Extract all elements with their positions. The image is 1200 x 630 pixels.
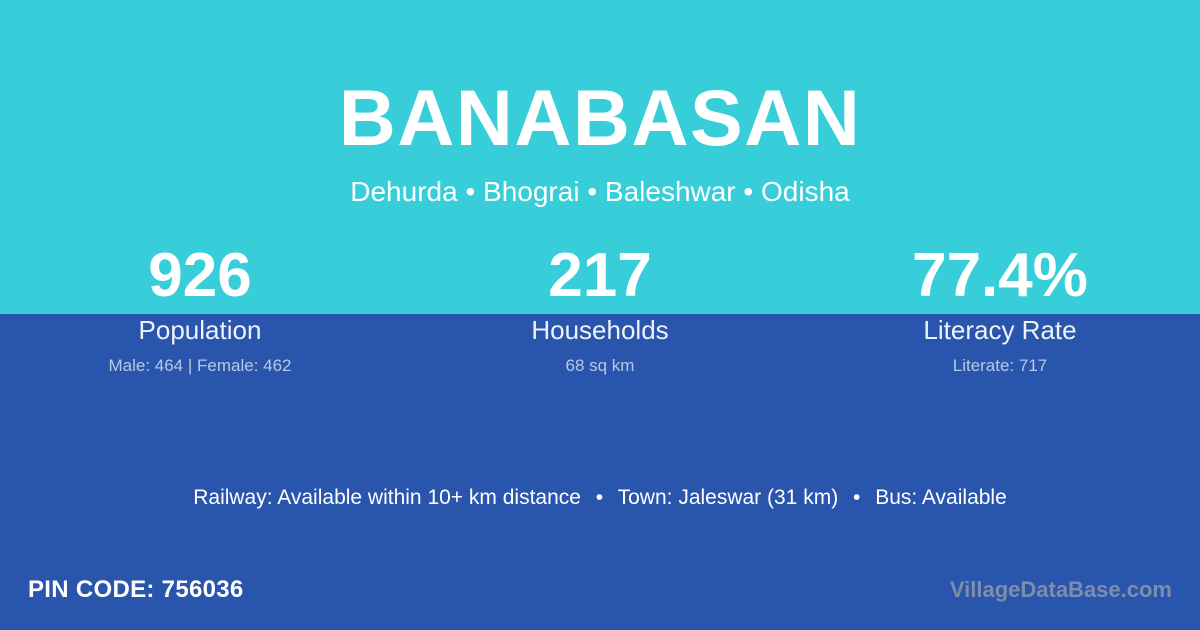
bus-info: Bus: Available [875, 486, 1007, 509]
amenities-info-line: Railway: Available within 10+ km distanc… [0, 486, 1200, 510]
card-header: BANABASAN Dehurda • Bhograi • Baleshwar … [0, 0, 1200, 208]
stat-households-value: 217 [400, 244, 800, 307]
stats-row: 926 Population Male: 464 | Female: 462 2… [0, 244, 1200, 376]
stat-population-sub: Male: 464 | Female: 462 [0, 357, 400, 376]
stat-population: 926 Population Male: 464 | Female: 462 [0, 244, 400, 376]
breadcrumb: Dehurda • Bhograi • Baleshwar • Odisha [0, 177, 1200, 208]
village-info-card: BANABASAN Dehurda • Bhograi • Baleshwar … [0, 0, 1200, 630]
stat-literacy-rate-value: 77.4% [800, 244, 1200, 307]
stat-population-value: 926 [0, 244, 400, 307]
stat-literacy-rate-sub: Literate: 717 [800, 357, 1200, 376]
stat-population-label: Population [0, 316, 400, 345]
stat-households: 217 Households 68 sq km [400, 244, 800, 376]
town-info: Town: Jaleswar (31 km) [618, 486, 839, 509]
stat-literacy-rate-label: Literacy Rate [800, 316, 1200, 345]
pin-code-label: PIN CODE: 756036 [28, 572, 244, 608]
railway-info: Railway: Available within 10+ km distanc… [193, 486, 581, 509]
card-footer: PIN CODE: 756036 VillageDataBase.com [0, 572, 1200, 616]
bullet-separator-icon: • [844, 486, 869, 510]
stat-households-sub: 68 sq km [400, 357, 800, 376]
bullet-separator-icon: • [587, 486, 612, 510]
stat-literacy-rate: 77.4% Literacy Rate Literate: 717 [800, 244, 1200, 376]
stat-households-label: Households [400, 316, 800, 345]
page-title: BANABASAN [0, 78, 1200, 157]
site-watermark: VillageDataBase.com [950, 572, 1172, 608]
